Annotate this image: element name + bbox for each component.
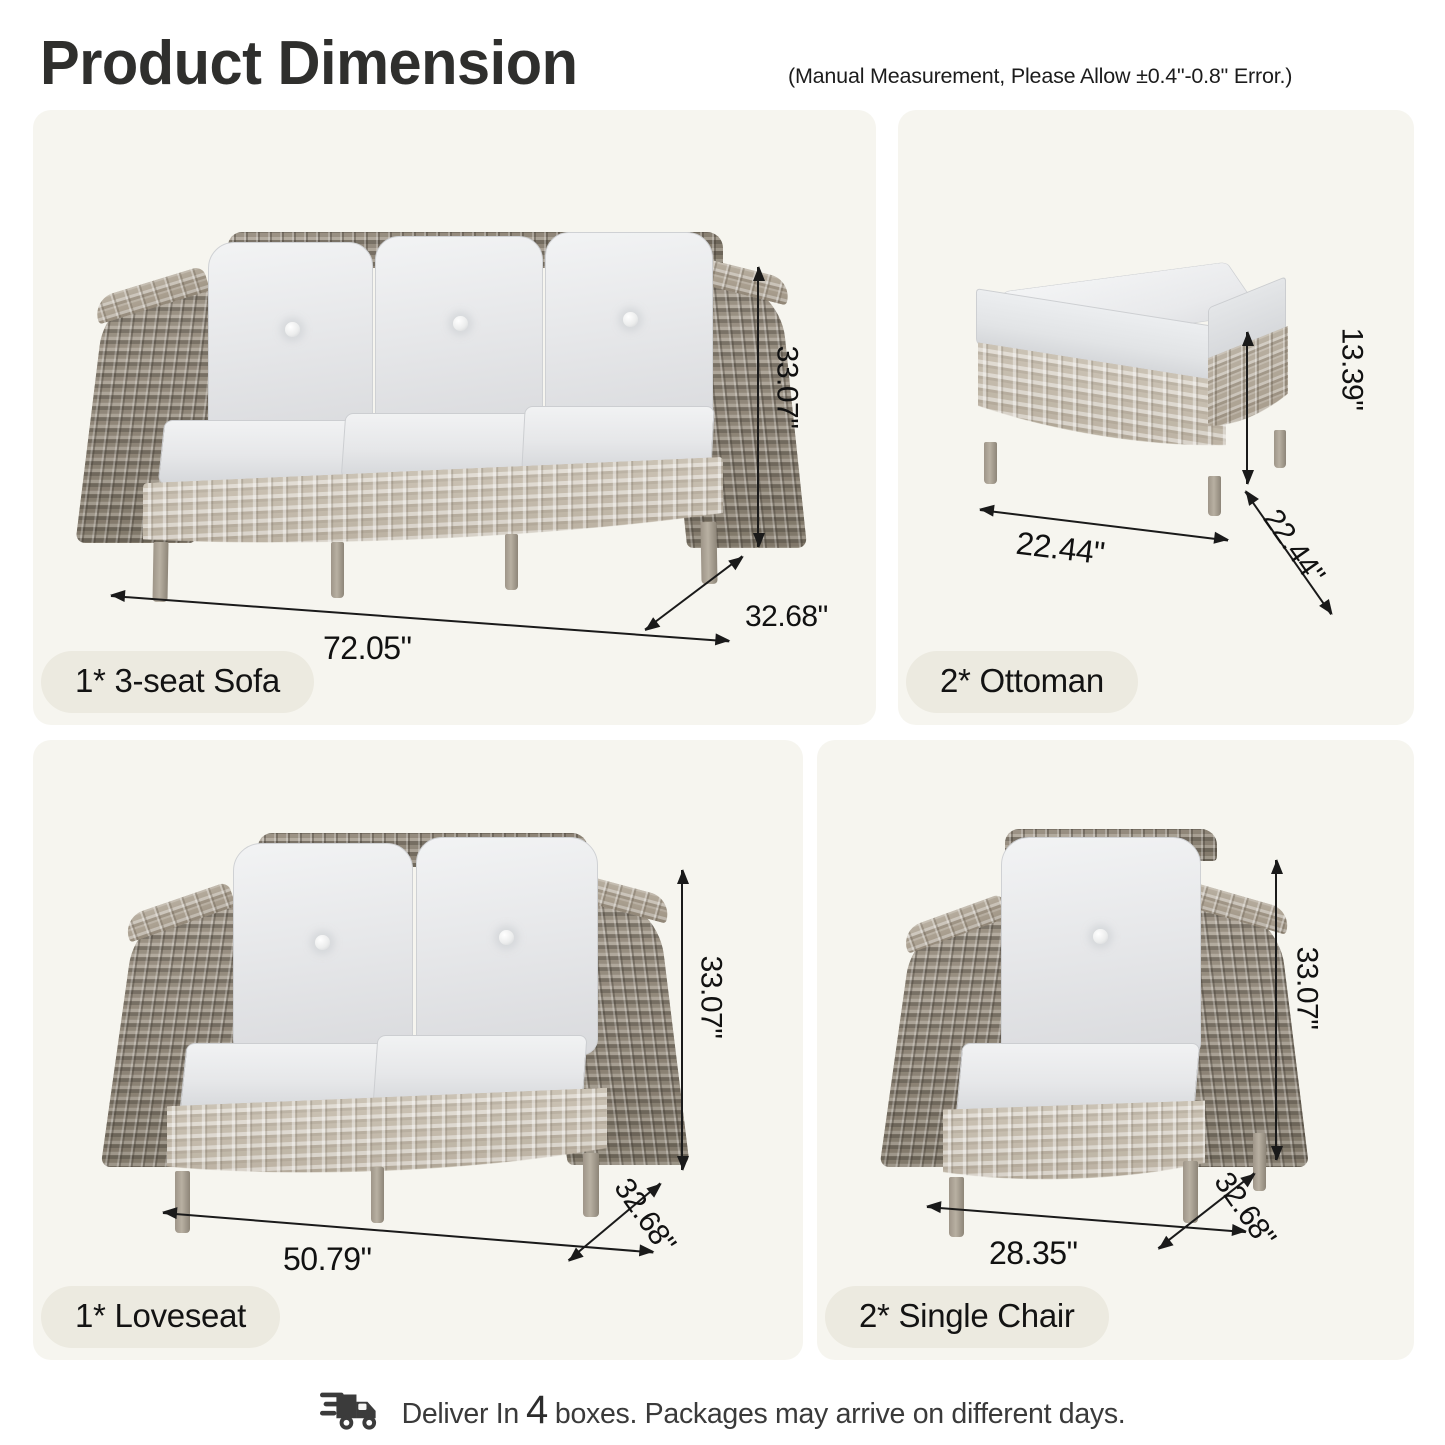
product-dimension-infographic: Product Dimension (Manual Measurement, P… (0, 0, 1445, 1445)
sofa-height-arrow (752, 267, 766, 547)
chair-height-label: 33.07" (1289, 947, 1323, 1030)
loveseat-caption: 1* Loveseat (41, 1286, 280, 1348)
sofa-caption: 1* 3-seat Sofa (41, 651, 314, 713)
panel-chair: 33.07" 32.68" 28.35" 2* Single Chair (817, 740, 1414, 1360)
sofa-tuft-1 (285, 322, 300, 337)
loveseat-leg-mid (371, 1167, 384, 1223)
sofa-width-arrow (110, 588, 729, 647)
sofa-depth-label: 32.68" (745, 600, 828, 634)
sofa-back-cushion-3 (545, 232, 713, 434)
ottoman-leg-back-right (1274, 430, 1286, 468)
page-title: Product Dimension (40, 28, 577, 100)
ottoman-depth-label: 22.44" (1256, 503, 1331, 590)
chair-width-label: 28.35" (989, 1235, 1077, 1272)
delivery-truck-icon (320, 1388, 382, 1432)
header: Product Dimension (Manual Measurement, P… (40, 28, 1420, 104)
chair-caption: 2* Single Chair (825, 1286, 1109, 1348)
panel-loveseat: 33.07" 32.68" 50.79" 1* Loveseat (33, 740, 803, 1360)
chair-illustration: 33.07" 32.68" 28.35" (877, 785, 1367, 1255)
sofa-tuft-3 (623, 312, 638, 327)
loveseat-tuft-2 (499, 930, 514, 945)
delivery-text: Deliver In 4 boxes. Packages may arrive … (402, 1390, 1126, 1431)
sofa-back-cushion-2 (375, 236, 543, 436)
loveseat-height-arrow (676, 870, 690, 1170)
loveseat-width-label: 50.79" (283, 1241, 371, 1278)
panel-sofa: 33.07" 32.68" 72.05" 1* 3-seat Sofa (33, 110, 876, 725)
sofa-leg-mid-right (505, 534, 518, 590)
ottoman-caption: 2* Ottoman (906, 651, 1138, 713)
delivery-info-bar: Deliver In 4 boxes. Packages may arrive … (0, 1378, 1445, 1442)
chair-height-arrow (1270, 860, 1284, 1160)
ottoman-width-label: 22.44" (1014, 525, 1106, 573)
chair-tuft (1093, 929, 1108, 944)
loveseat-leg-front-right (583, 1153, 599, 1217)
sofa-leg-mid-left (331, 542, 344, 598)
sofa-height-label: 33.07" (769, 346, 803, 429)
ottoman-leg-front-left (984, 442, 997, 484)
ottoman-height-arrow (1241, 332, 1255, 484)
delivery-text-after: boxes. Packages may arrive on different … (555, 1398, 1126, 1431)
loveseat-back-cushion-2 (416, 837, 598, 1055)
loveseat-height-label: 33.07" (693, 956, 727, 1039)
loveseat-tuft-1 (315, 935, 330, 950)
loveseat-back-cushion-1 (233, 843, 413, 1058)
sofa-width-label: 72.05" (323, 630, 411, 667)
measurement-disclaimer: (Manual Measurement, Please Allow ±0.4"-… (788, 64, 1292, 89)
delivery-text-before: Deliver In (402, 1398, 519, 1431)
delivery-box-count: 4 (519, 1390, 555, 1430)
loveseat-illustration: 33.07" 32.68" 50.79" (83, 785, 743, 1255)
loveseat-base-weave (167, 1088, 607, 1224)
panel-ottoman: 13.39" 22.44" 22.44" 2* Ottoman (898, 110, 1414, 725)
ottoman-height-label: 13.39" (1334, 328, 1368, 411)
loveseat-leg-front-left (175, 1171, 190, 1233)
sofa-illustration: 33.07" 32.68" 72.05" (53, 170, 793, 630)
chair-back-cushion (1001, 837, 1201, 1059)
sofa-tuft-2 (453, 316, 468, 331)
sofa-back-cushion-1 (208, 242, 373, 442)
ottoman-illustration: 13.39" 22.44" 22.44" (958, 230, 1378, 630)
ottoman-leg-front-right (1208, 476, 1221, 516)
